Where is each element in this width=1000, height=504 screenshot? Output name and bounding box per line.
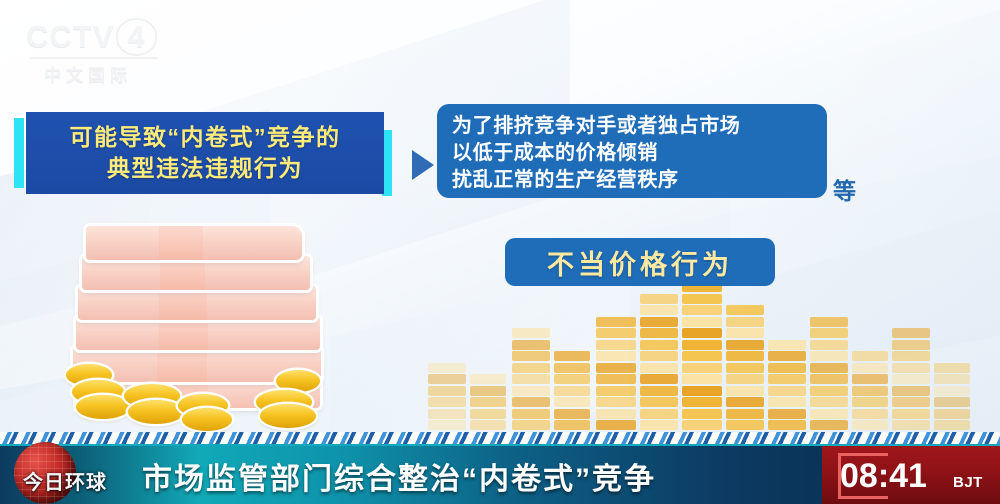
coin-disc — [726, 397, 764, 407]
coin-disc — [810, 351, 848, 361]
channel-logo-main: CCTV4 — [26, 18, 176, 56]
coin-disc — [512, 351, 550, 361]
coin-disc — [892, 397, 930, 407]
coin-disc — [768, 386, 806, 396]
coin-disc — [810, 328, 848, 338]
coin-disc — [682, 363, 722, 373]
stack-of-banknotes — [70, 222, 340, 412]
coin-disc — [640, 363, 678, 373]
coin-disc — [726, 363, 764, 373]
coin-disc — [852, 351, 888, 361]
coin-disc — [640, 351, 678, 361]
coin-disc — [596, 328, 636, 338]
coin-disc — [596, 420, 636, 430]
coin-disc — [726, 328, 764, 338]
banknote-bundle — [82, 256, 310, 290]
coin-disc — [682, 397, 722, 407]
coin-disc — [512, 409, 550, 419]
coin-column — [682, 269, 722, 430]
coin-disc — [892, 409, 930, 419]
content-line-1: 为了排挤竞争对手或者独占市场 — [452, 113, 827, 140]
clock-time: 08:41 — [840, 457, 927, 496]
coin-disc — [852, 409, 888, 419]
coin-disc — [554, 409, 590, 419]
coin-disc — [470, 409, 506, 419]
coin-disc — [768, 351, 806, 361]
coin-disc — [852, 397, 888, 407]
coin-column — [810, 315, 848, 430]
channel-logo-sub: 中文国际 — [44, 61, 176, 86]
banknote-bundle — [76, 316, 320, 350]
coin-disc — [768, 397, 806, 407]
coin-column — [768, 338, 806, 430]
broadcast-frame: CCTV4 中文国际 可能导致“内卷式”竞争的 典型违法违规行为 为了排挤竞争对… — [0, 0, 1000, 504]
gold-coin — [128, 400, 184, 424]
coin-disc — [512, 374, 550, 384]
coin-disc — [726, 420, 764, 430]
coin-disc — [852, 374, 888, 384]
coin-disc — [892, 340, 930, 350]
channel-logo-number: 4 — [116, 18, 156, 56]
coin-disc — [640, 397, 678, 407]
clock-block: 08:41 BJT — [822, 446, 1000, 504]
coin-disc — [934, 397, 970, 407]
coin-disc — [640, 305, 678, 315]
content-line-2: 以低于成本的价格倾销 — [452, 140, 827, 167]
coin-column — [892, 327, 930, 431]
striped-tape-divider — [0, 432, 1000, 446]
coin-disc — [640, 317, 678, 327]
coin-disc — [554, 386, 590, 396]
coin-disc — [596, 363, 636, 373]
coin-disc — [682, 328, 722, 338]
pill-badge: 不当价格行为 — [505, 238, 775, 286]
coin-disc — [512, 397, 550, 407]
gold-coin — [76, 395, 130, 419]
coin-column — [554, 350, 590, 431]
coin-disc — [934, 409, 970, 419]
coin-disc — [428, 363, 466, 373]
title-line-2: 典型违法违规行为 — [107, 154, 303, 183]
coin-disc — [682, 386, 722, 396]
coin-disc — [512, 340, 550, 350]
coin-disc — [726, 386, 764, 396]
coin-disc — [596, 386, 636, 396]
coin-disc — [554, 363, 590, 373]
coin-disc — [892, 328, 930, 338]
coin-disc — [554, 351, 590, 361]
banknote-bundle — [78, 286, 316, 320]
coin-disc — [512, 386, 550, 396]
coin-disc — [934, 374, 970, 384]
program-logo: 今日环球 — [2, 444, 122, 504]
coin-disc — [682, 317, 722, 327]
coin-column — [596, 315, 636, 430]
coin-column — [428, 361, 466, 430]
coin-disc — [682, 351, 722, 361]
coin-column — [726, 304, 764, 431]
coin-disc — [682, 409, 722, 419]
title-accent-left — [14, 118, 24, 188]
coin-disc — [512, 328, 550, 338]
coin-disc — [934, 363, 970, 373]
coin-disc — [934, 420, 970, 430]
coin-disc — [934, 386, 970, 396]
coin-disc — [726, 305, 764, 315]
content-suffix: 等 — [833, 172, 857, 206]
coin-disc — [428, 409, 466, 419]
coin-disc — [428, 374, 466, 384]
gold-coin — [182, 408, 232, 431]
banknote-bundle — [86, 226, 302, 260]
coin-disc — [892, 386, 930, 396]
coin-disc — [852, 363, 888, 373]
coin-disc — [726, 317, 764, 327]
coin-disc — [428, 386, 466, 396]
gold-coin — [276, 370, 320, 392]
coin-disc — [428, 397, 466, 407]
coin-disc — [852, 386, 888, 396]
coin-disc — [726, 409, 764, 419]
coin-disc — [852, 420, 888, 430]
gold-coin — [260, 404, 316, 428]
coin-disc — [682, 340, 722, 350]
coin-disc — [554, 420, 590, 430]
coin-disc — [768, 420, 806, 430]
coin-disc — [596, 351, 636, 361]
coin-disc — [640, 420, 678, 430]
coin-disc — [512, 363, 550, 373]
coin-disc — [682, 374, 722, 384]
coin-disc — [554, 397, 590, 407]
clock-timezone: BJT — [953, 474, 983, 491]
coin-column — [934, 361, 970, 430]
coin-disc — [892, 420, 930, 430]
coin-disc — [726, 340, 764, 350]
coin-disc — [768, 409, 806, 419]
coin-disc — [596, 340, 636, 350]
gold-coin-columns — [420, 270, 980, 430]
coin-disc — [596, 397, 636, 407]
coin-disc — [640, 294, 678, 304]
coin-disc — [682, 294, 722, 304]
title-line-1: 可能导致“内卷式”竞争的 — [70, 123, 341, 152]
coin-disc — [768, 363, 806, 373]
coin-disc — [640, 374, 678, 384]
coin-disc — [810, 340, 848, 350]
coin-disc — [640, 386, 678, 396]
coin-column — [470, 373, 506, 431]
coin-disc — [470, 420, 506, 430]
coin-disc — [596, 317, 636, 327]
coin-disc — [682, 305, 722, 315]
coin-disc — [810, 363, 848, 373]
coin-disc — [640, 340, 678, 350]
coin-disc — [470, 386, 506, 396]
coin-disc — [810, 409, 848, 419]
coin-column — [852, 350, 888, 431]
coin-disc — [892, 363, 930, 373]
coin-disc — [810, 317, 848, 327]
coin-disc — [892, 351, 930, 361]
content-line-3: 扰乱正常的生产经营秩序 — [452, 167, 827, 194]
coin-disc — [810, 374, 848, 384]
coin-disc — [768, 340, 806, 350]
triangle-pointer-icon — [412, 150, 434, 180]
coin-disc — [726, 351, 764, 361]
coin-disc — [810, 386, 848, 396]
program-name: 今日环球 — [6, 466, 124, 495]
coin-disc — [682, 420, 722, 430]
coin-disc — [768, 374, 806, 384]
news-banner: 今日环球 市场监管部门综合整治“内卷式”竞争 08:41 BJT — [0, 432, 1000, 504]
coin-disc — [596, 374, 636, 384]
logo-divider — [30, 57, 158, 59]
coin-disc — [640, 328, 678, 338]
coin-disc — [726, 374, 764, 384]
coin-column — [512, 327, 550, 431]
coin-disc — [640, 409, 678, 419]
coin-disc — [428, 420, 466, 430]
coin-disc — [554, 374, 590, 384]
title-box: 可能导致“内卷式”竞争的 典型违法违规行为 — [26, 112, 384, 194]
pill-label: 不当价格行为 — [547, 243, 733, 282]
coin-disc — [892, 374, 930, 384]
coin-disc — [810, 397, 848, 407]
coin-column — [640, 292, 678, 430]
cctv4-logo-watermark: CCTV4 中文国际 — [26, 18, 176, 76]
coin-disc — [470, 374, 506, 384]
coin-disc — [810, 420, 848, 430]
content-box: 为了排挤竞争对手或者独占市场 以低于成本的价格倾销 扰乱正常的生产经营秩序 — [437, 104, 827, 198]
coin-disc — [470, 397, 506, 407]
coin-disc — [596, 409, 636, 419]
coin-disc — [512, 420, 550, 430]
headline-text: 市场监管部门综合整治“内卷式”竞争 — [142, 454, 656, 498]
